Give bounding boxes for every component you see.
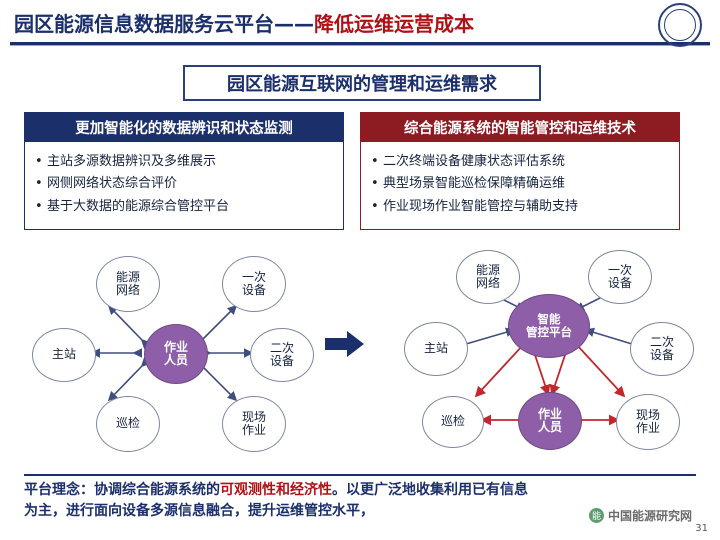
- diagram-current-state: 能源网络 一次设备 主站 作业人员 二次设备 巡检 现场作业: [24, 248, 324, 458]
- panel-left-header: 更加智能化的数据辨识和状态监测: [24, 112, 344, 142]
- node-energy-network: 能源网络: [456, 250, 520, 304]
- list-item-label: 典型场景智能巡检保障精确运维: [383, 176, 565, 192]
- node-secondary-equipment: 二次设备: [630, 322, 694, 376]
- page-title-main: 园区能源信息数据服务云平台——: [14, 12, 314, 36]
- footer-divider: [24, 474, 696, 476]
- node-center-operator: 作业人员: [144, 324, 208, 384]
- transition-arrow-icon: [325, 330, 365, 358]
- logo-inner-ring: [664, 9, 696, 41]
- node-center-control-platform: 智能管控平台: [508, 294, 590, 358]
- list-item-label: 网侧网络状态综合评价: [47, 176, 177, 192]
- slide-header: 园区能源信息数据服务云平台——降低运维运营成本: [0, 0, 720, 48]
- bullet-dot-icon: •: [371, 176, 383, 192]
- node-field-work: 现场作业: [222, 396, 286, 452]
- list-item-label: 基于大数据的能源综合管控平台: [47, 199, 229, 215]
- node-master-station: 主站: [404, 322, 468, 376]
- footer-line1-a: 平台理念：协调综合能源系统的: [24, 482, 220, 498]
- list-item: • 基于大数据的能源综合管控平台: [35, 199, 337, 215]
- panel-right-body: • 二次终端设备健康状态评估系统 • 典型场景智能巡检保障精确运维 • 作业现场…: [360, 142, 680, 230]
- footer-line1-b: 。以更广泛地收集利用已有信息: [332, 482, 528, 498]
- list-item-label: 主站多源数据辨识及多维展示: [47, 154, 216, 170]
- section-title: 园区能源互联网的管理和运维需求: [183, 65, 541, 101]
- bullet-dot-icon: •: [35, 199, 47, 215]
- list-item: • 网侧网络状态综合评价: [35, 176, 337, 192]
- diagram-target-state: 能源网络 一次设备 主站 智能管控平台 二次设备 作业人员 巡检 现场作业: [396, 248, 696, 458]
- list-item: • 作业现场作业智能管控与辅助支持: [371, 199, 673, 215]
- panel-data-identification: 更加智能化的数据辨识和状态监测 • 主站多源数据辨识及多维展示 • 网侧网络状态…: [24, 112, 344, 230]
- list-item-label: 作业现场作业智能管控与辅助支持: [383, 199, 578, 215]
- node-field-work: 现场作业: [616, 394, 680, 450]
- bullet-dot-icon: •: [35, 154, 47, 170]
- page-title: 园区能源信息数据服务云平台——降低运维运营成本: [14, 8, 474, 37]
- bullet-dot-icon: •: [371, 154, 383, 170]
- watermark-label: 中国能源研究网: [608, 507, 692, 524]
- bullet-dot-icon: •: [35, 176, 47, 192]
- node-primary-equipment: 一次设备: [222, 256, 286, 312]
- node-operator: 作业人员: [518, 392, 582, 450]
- header-divider-thin: [10, 45, 710, 46]
- footer-line-1: 平台理念：协调综合能源系统的可观测性和经济性。以更广泛地收集利用已有信息: [24, 480, 696, 501]
- node-energy-network: 能源网络: [96, 256, 160, 312]
- list-item: • 主站多源数据辨识及多维展示: [35, 154, 337, 170]
- panel-intelligent-control: 综合能源系统的智能管控和运维技术 • 二次终端设备健康状态评估系统 • 典型场景…: [360, 112, 680, 230]
- slide: 园区能源信息数据服务云平台——降低运维运营成本 园区能源互联网的管理和运维需求 …: [0, 0, 720, 540]
- panel-right-header: 综合能源系统的智能管控和运维技术: [360, 112, 680, 142]
- watermark: 能 中国能源研究网: [589, 507, 692, 524]
- watermark-logo-icon: 能: [589, 508, 604, 523]
- footer-line1-highlight: 可观测性和经济性: [220, 482, 332, 498]
- list-item: • 典型场景智能巡检保障精确运维: [371, 176, 673, 192]
- list-item: • 二次终端设备健康状态评估系统: [371, 154, 673, 170]
- organization-logo-icon: [658, 3, 702, 47]
- list-item-label: 二次终端设备健康状态评估系统: [383, 154, 565, 170]
- panel-left-body: • 主站多源数据辨识及多维展示 • 网侧网络状态综合评价 • 基于大数据的能源综…: [24, 142, 344, 230]
- node-master-station: 主站: [32, 328, 96, 382]
- page-title-accent: 降低运维运营成本: [314, 12, 474, 36]
- node-primary-equipment: 一次设备: [588, 250, 652, 304]
- node-inspection: 巡检: [96, 396, 160, 452]
- node-secondary-equipment: 二次设备: [250, 328, 314, 382]
- bullet-dot-icon: •: [371, 199, 383, 215]
- page-number: 31: [695, 523, 708, 534]
- node-inspection: 巡检: [422, 396, 484, 448]
